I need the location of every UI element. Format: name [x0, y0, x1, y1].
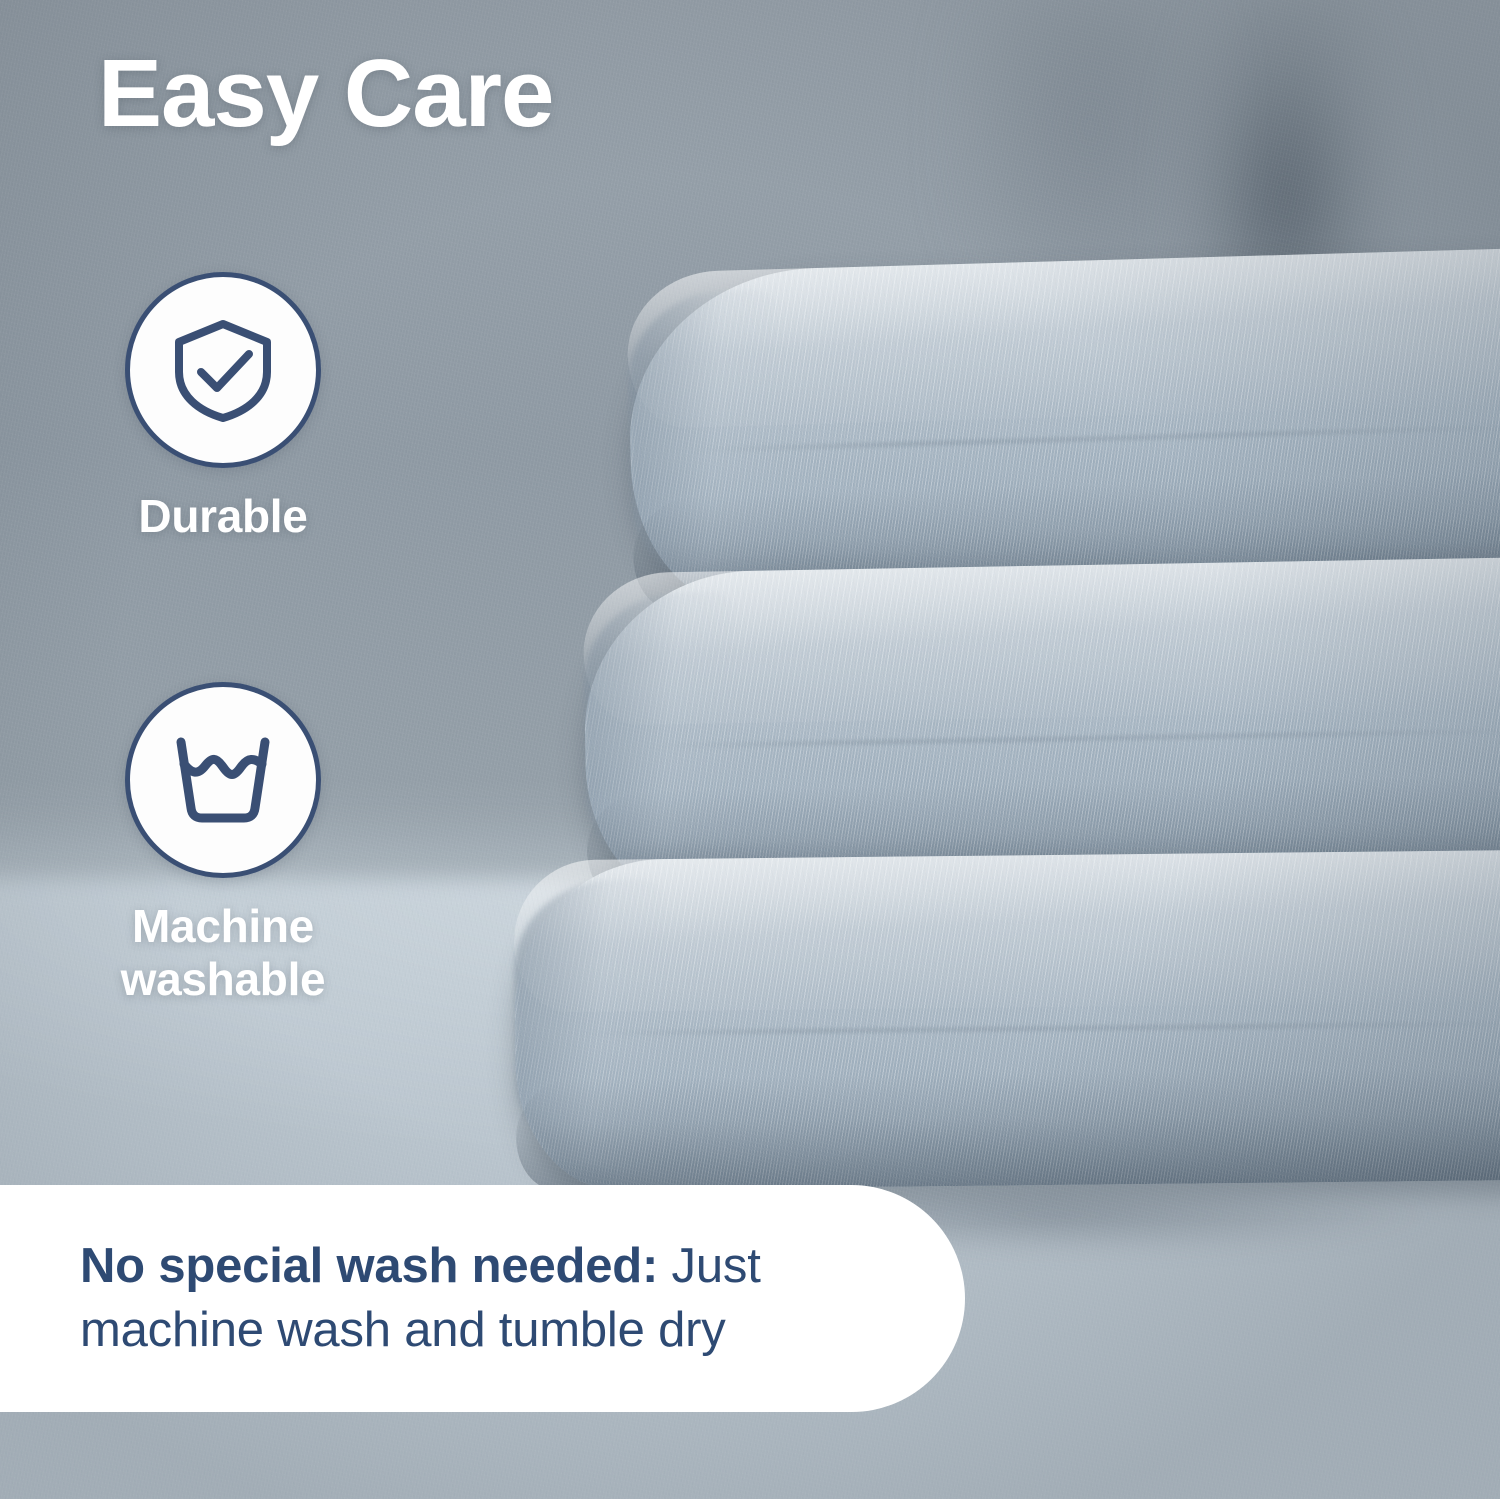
- shield-check-icon: [165, 312, 281, 428]
- page-title: Easy Care: [98, 44, 553, 145]
- caption-banner: No special wash needed: Just machine was…: [0, 1185, 965, 1412]
- caption-strong-text: No special wash needed:: [80, 1239, 658, 1293]
- caption-text: No special wash needed: Just machine was…: [0, 1235, 965, 1362]
- durable-badge: [125, 272, 321, 468]
- feature-label-durable: Durable: [58, 490, 388, 542]
- product-feature-image: Easy Care Durable: [0, 0, 1500, 1499]
- feature-list: Durable Machine washable: [58, 272, 388, 1005]
- wash-basin-icon: [165, 728, 281, 832]
- feature-item-machine-washable: Machine washable: [58, 682, 388, 1005]
- feature-label-machine-washable: Machine washable: [58, 900, 388, 1005]
- feature-label-line-1: Machine: [58, 900, 388, 952]
- machine-washable-badge: [125, 682, 321, 878]
- feature-label-line-2: washable: [58, 953, 388, 1005]
- feature-item-durable: Durable: [58, 272, 388, 542]
